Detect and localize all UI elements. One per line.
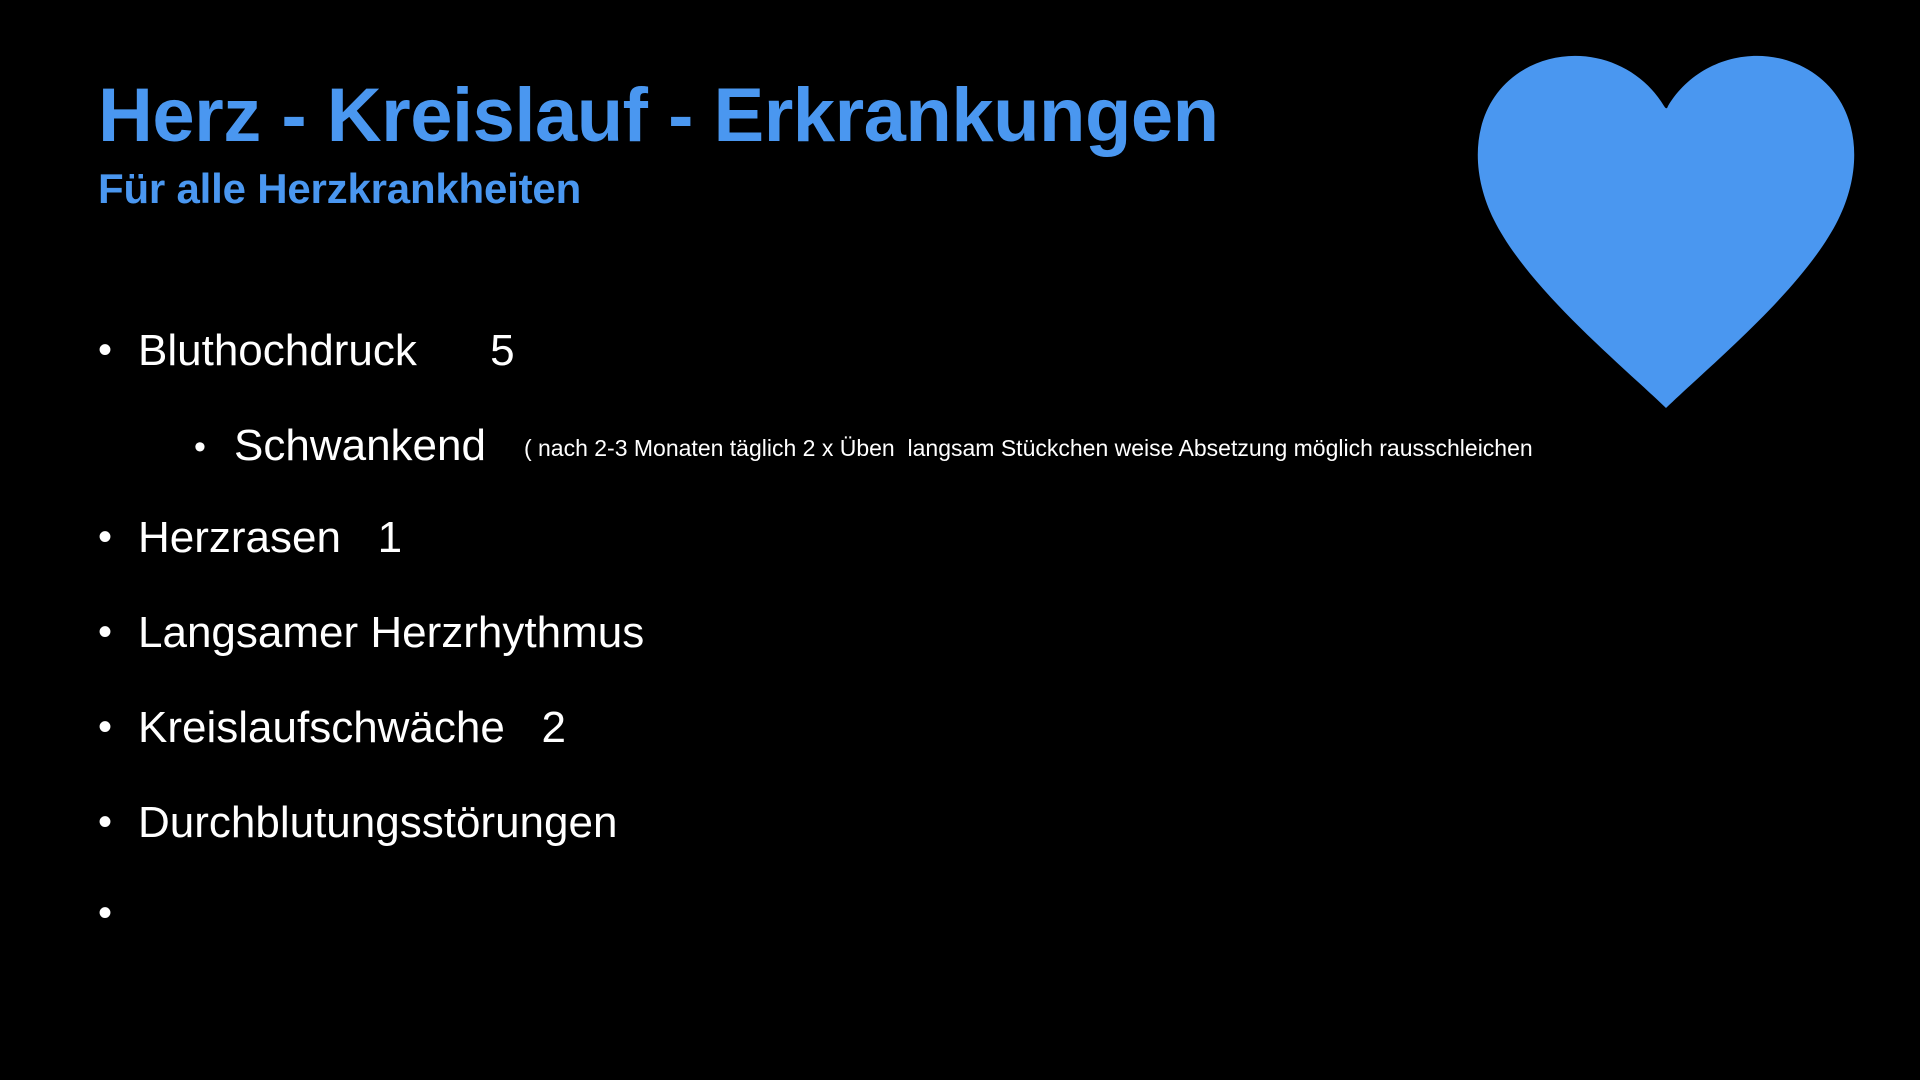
list-item-note: ( nach 2-3 Monaten täglich 2 x Üben lang… — [524, 437, 1533, 460]
list-item: • Bluthochdruck 5 — [98, 328, 1858, 380]
bullet-marker-icon: • — [98, 707, 138, 747]
list-item-label: Bluthochdruck 5 — [138, 328, 515, 374]
slide-canvas: Herz - Kreislauf - Erkrankungen Für alle… — [0, 0, 1920, 1080]
list-item-label: Langsamer Herzrhythmus — [138, 610, 644, 656]
list-item: • Herzrasen 1 — [98, 515, 1858, 567]
bullet-marker-icon: • — [194, 430, 234, 464]
list-item-label: Herzrasen 1 — [138, 515, 402, 561]
bullet-list: • Bluthochdruck 5 • Schwankend ( nach 2-… — [98, 328, 1858, 947]
bullet-marker-icon: • — [98, 893, 138, 933]
page-title: Herz - Kreislauf - Erkrankungen — [98, 78, 1398, 154]
list-item-label: Kreislaufschwäche 2 — [138, 705, 566, 751]
list-item-empty: • — [98, 895, 1858, 947]
list-item: • Langsamer Herzrhythmus — [98, 610, 1858, 662]
list-item: • Durchblutungsstörungen — [98, 800, 1858, 852]
title-block: Herz - Kreislauf - Erkrankungen Für alle… — [98, 78, 1398, 210]
bullet-marker-icon: • — [98, 802, 138, 842]
list-item: • Kreislaufschwäche 2 — [98, 705, 1858, 757]
page-subtitle: Für alle Herzkrankheiten — [98, 168, 1398, 210]
list-item-label: Schwankend — [234, 423, 486, 469]
bullet-marker-icon: • — [98, 612, 138, 652]
bullet-marker-icon: • — [98, 517, 138, 557]
list-item-sub: • Schwankend ( nach 2-3 Monaten täglich … — [194, 423, 1858, 475]
bullet-marker-icon: • — [98, 330, 138, 370]
list-item-label: Durchblutungsstörungen — [138, 800, 617, 846]
